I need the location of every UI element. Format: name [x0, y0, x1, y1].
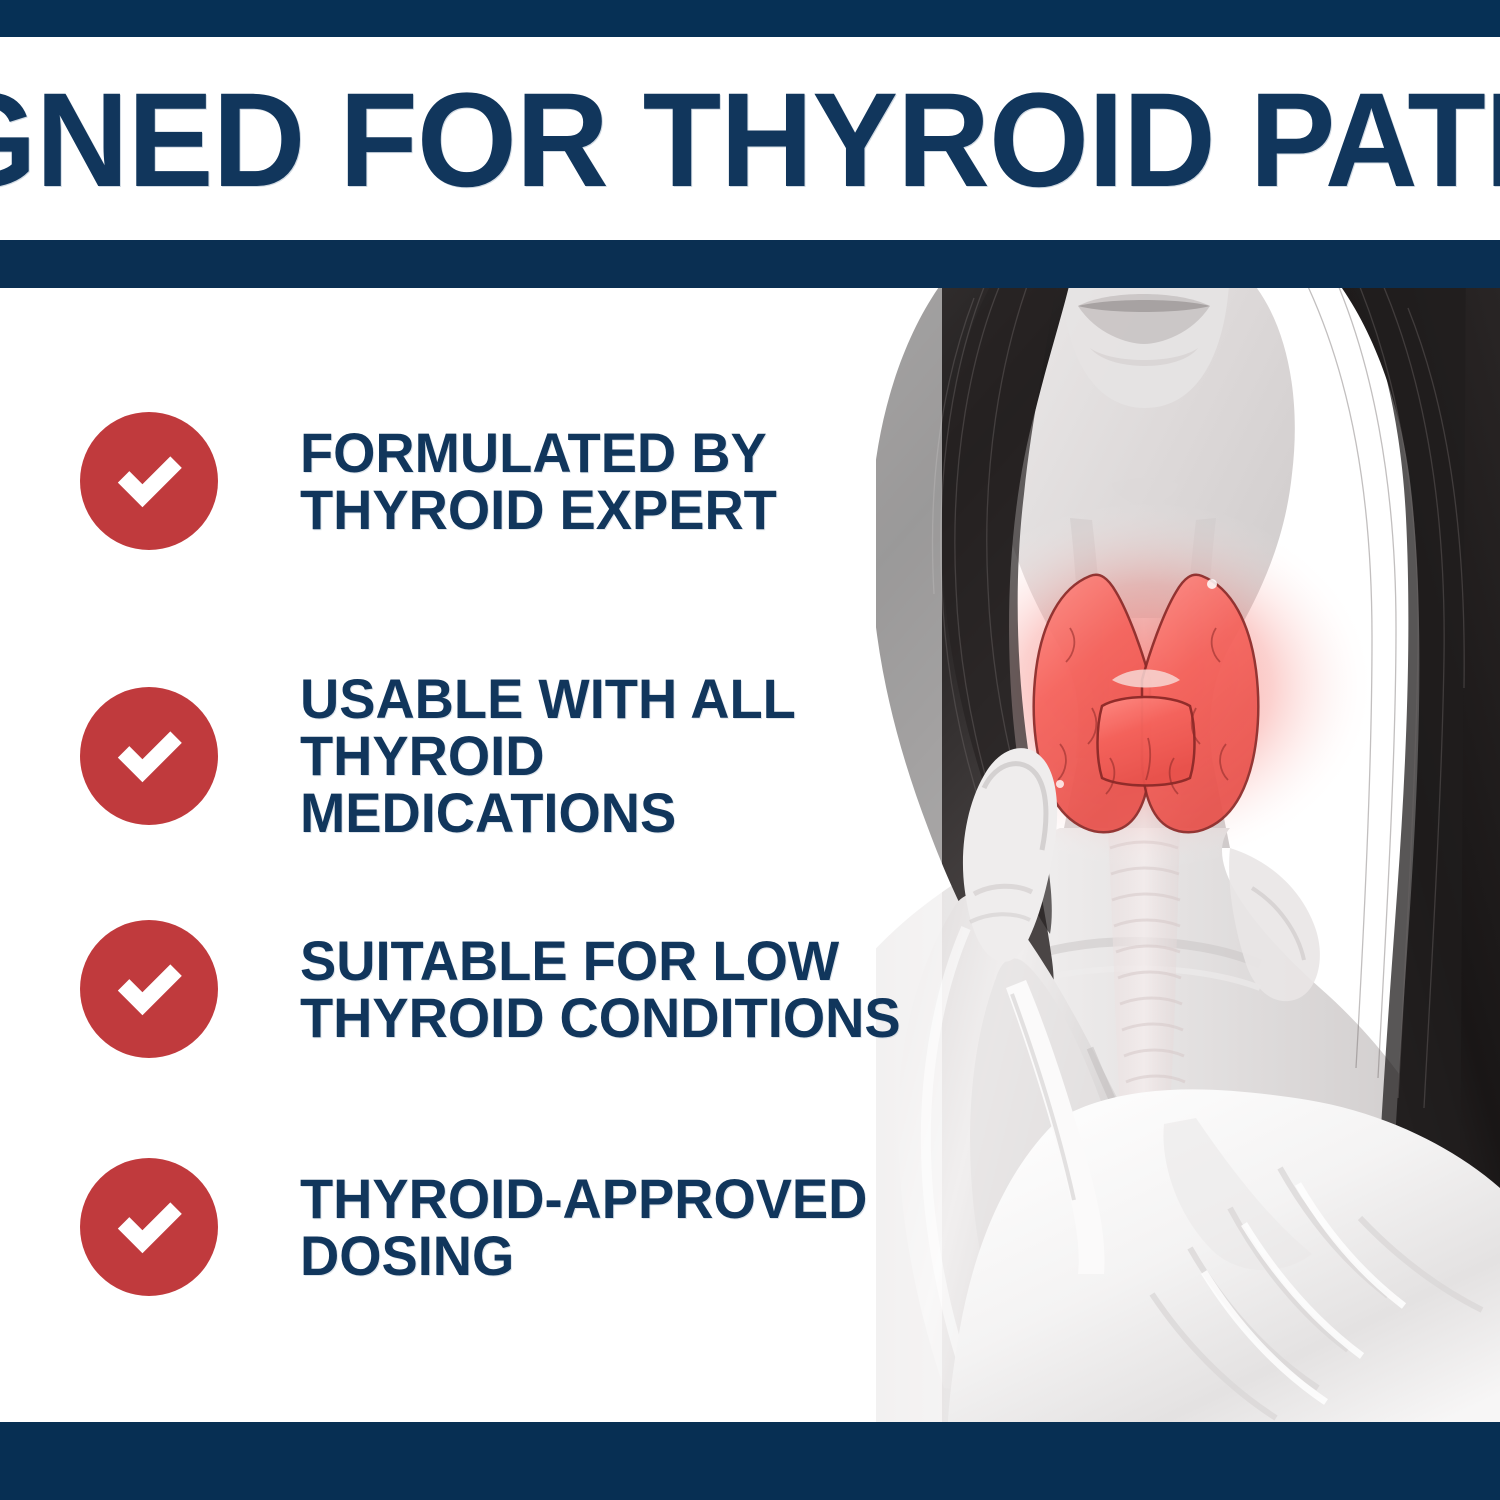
page-title-text: DESIGNED FOR THYROID PATIENTS	[0, 74, 1500, 208]
benefit-line-3b: THYROID CONDITIONS	[300, 989, 901, 1046]
benefit-item-4: THYROID-APPROVED DOSING	[80, 1158, 940, 1296]
check-icon	[80, 412, 218, 550]
page-title: DESIGNED FOR THYROID PATIENTS	[0, 56, 1500, 226]
benefit-line-1b: THYROID EXPERT	[300, 481, 777, 538]
benefit-line-2b: THYROID MEDICATIONS	[300, 727, 921, 841]
navy-divider-bar	[0, 240, 1500, 288]
infographic-canvas: DESIGNED FOR THYROID PATIENTS FORMULATED…	[0, 0, 1500, 1500]
check-icon	[80, 1158, 218, 1296]
bottom-navy-bar	[0, 1422, 1500, 1500]
benefit-line-2a: USABLE WITH ALL	[300, 667, 796, 730]
benefit-line-3a: SUITABLE FOR LOW	[300, 929, 839, 992]
benefit-line-4b: DOSING	[300, 1227, 867, 1284]
benefit-text-2: USABLE WITH ALL THYROID MEDICATIONS	[300, 670, 921, 841]
benefit-text-4: THYROID-APPROVED DOSING	[300, 1170, 867, 1284]
benefit-text-3: SUITABLE FOR LOW THYROID CONDITIONS	[300, 932, 901, 1046]
benefit-text-1: FORMULATED BY THYROID EXPERT	[300, 424, 777, 538]
benefit-line-1a: FORMULATED BY	[300, 421, 767, 484]
top-navy-bar	[0, 0, 1500, 37]
benefit-item-1: FORMULATED BY THYROID EXPERT	[80, 412, 940, 550]
check-icon	[80, 687, 218, 825]
benefit-list: FORMULATED BY THYROID EXPERT USABLE WITH…	[0, 300, 960, 1410]
benefit-item-2: USABLE WITH ALL THYROID MEDICATIONS	[80, 670, 940, 841]
benefit-item-3: SUITABLE FOR LOW THYROID CONDITIONS	[80, 920, 940, 1058]
check-icon	[80, 920, 218, 1058]
benefit-line-4a: THYROID-APPROVED	[300, 1167, 867, 1230]
